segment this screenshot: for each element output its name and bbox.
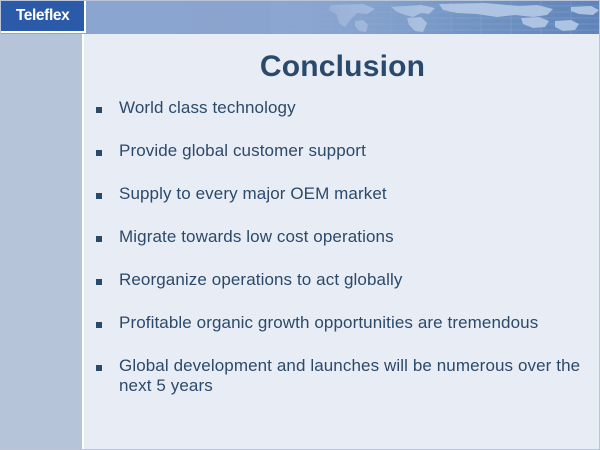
list-item: Global development and launches will be …	[96, 356, 596, 396]
square-bullet-icon	[96, 279, 102, 285]
square-bullet-icon	[96, 365, 102, 371]
list-item: Provide global customer support	[96, 141, 596, 165]
list-item-label: Profitable organic growth opportunities …	[119, 313, 538, 333]
list-item-label: World class technology	[119, 98, 296, 118]
slide-title: Conclusion	[86, 50, 599, 84]
list-item-label: Provide global customer support	[119, 141, 366, 161]
list-item-label: Supply to every major OEM market	[119, 184, 387, 204]
slide-content-area: Conclusion World class technology Provid…	[86, 34, 599, 449]
presentation-slide: Teleflex Conclusion World class technolo…	[0, 0, 600, 450]
logo-wordmark: Teleflex	[16, 7, 70, 25]
list-item: Migrate towards low cost operations	[96, 227, 596, 251]
list-item: Reorganize operations to act globally	[96, 270, 596, 294]
list-item-label: Reorganize operations to act globally	[119, 270, 402, 290]
list-item: World class technology	[96, 98, 596, 122]
bullet-list: World class technology Provide global cu…	[96, 98, 596, 415]
square-bullet-icon	[96, 193, 102, 199]
teleflex-logo: Teleflex	[1, 1, 86, 33]
square-bullet-icon	[96, 236, 102, 242]
slide-sidebar-column	[1, 34, 84, 449]
list-item: Profitable organic growth opportunities …	[96, 313, 596, 337]
slide-header-band: Teleflex	[1, 1, 600, 34]
list-item-label: Migrate towards low cost operations	[119, 227, 394, 247]
world-map-graphic	[271, 1, 600, 34]
list-item-label: Global development and launches will be …	[119, 356, 589, 396]
square-bullet-icon	[96, 107, 102, 113]
square-bullet-icon	[96, 322, 102, 328]
list-item: Supply to every major OEM market	[96, 184, 596, 208]
square-bullet-icon	[96, 150, 102, 156]
